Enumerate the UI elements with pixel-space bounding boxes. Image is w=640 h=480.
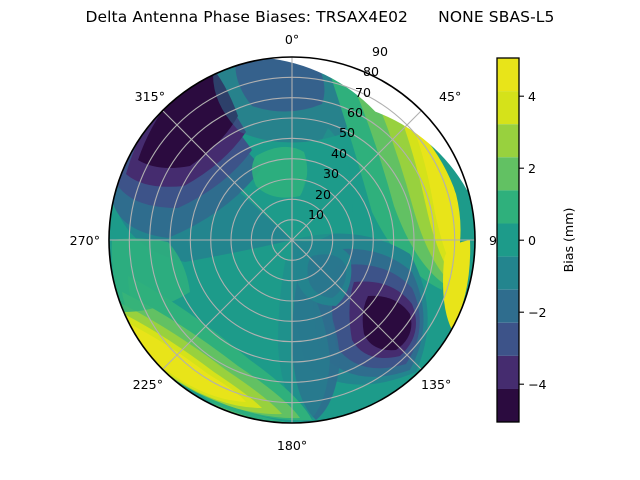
colorbar-tick-labels: 4 2 0 −2 −4	[528, 89, 547, 392]
radial-label-40: 40	[331, 146, 347, 161]
polar-skyplot: 0° 45° 90° 135° 180° 225° 270° 315° 10 2…	[0, 0, 640, 480]
radial-label-30: 30	[323, 166, 339, 181]
colorbar-swatch-4	[497, 257, 519, 290]
radial-label-20: 20	[315, 187, 331, 202]
polar-plot-area: 0° 45° 90° 135° 180° 225° 270° 315° 10 2…	[0, 0, 640, 480]
colorbar-swatch-10	[497, 58, 519, 91]
colorbar-ticklabel-0: 0	[528, 233, 536, 248]
radial-label-90: 90	[372, 44, 388, 59]
colorbar-swatch-7	[497, 157, 519, 190]
colorbar-swatch-8	[497, 124, 519, 157]
colorbar-swatch-5	[497, 224, 519, 257]
colorbar[interactable]: 4 2 0 −2 −4 Bias (mm)	[497, 58, 576, 422]
colorbar-swatch-9	[497, 91, 519, 124]
azimuth-label-45: 45°	[439, 89, 461, 104]
colorbar-swatch-2	[497, 323, 519, 356]
colorbar-swatch-0	[497, 389, 519, 422]
radial-label-50: 50	[339, 125, 355, 140]
radial-label-60: 60	[347, 105, 363, 120]
colorbar-axis-label: Bias (mm)	[561, 208, 576, 273]
radial-label-80: 80	[363, 64, 379, 79]
azimuth-label-225: 225°	[133, 377, 163, 392]
colorbar-ticklabel-2: 2	[528, 161, 536, 176]
colorbar-ticks	[519, 96, 524, 384]
azimuth-label-180: 180°	[277, 438, 307, 453]
azimuth-label-315: 315°	[135, 89, 165, 104]
colorbar-ticklabel-neg4: −4	[528, 377, 547, 392]
radial-label-70: 70	[355, 85, 371, 100]
colorbar-ticklabel-neg2: −2	[528, 305, 547, 320]
azimuth-label-135: 135°	[421, 377, 451, 392]
colorbar-swatch-6	[497, 190, 519, 223]
polar-grid	[109, 57, 475, 423]
colorbar-swatches	[497, 58, 519, 422]
colorbar-swatch-1	[497, 356, 519, 389]
azimuth-label-0: 0°	[285, 32, 299, 47]
figure-canvas: Delta Antenna Phase Biases: TRSAX4E02 NO…	[0, 0, 640, 480]
colorbar-ticklabel-4: 4	[528, 89, 536, 104]
radial-label-10: 10	[308, 207, 324, 222]
azimuth-label-270: 270°	[70, 233, 100, 248]
colorbar-swatch-3	[497, 290, 519, 323]
